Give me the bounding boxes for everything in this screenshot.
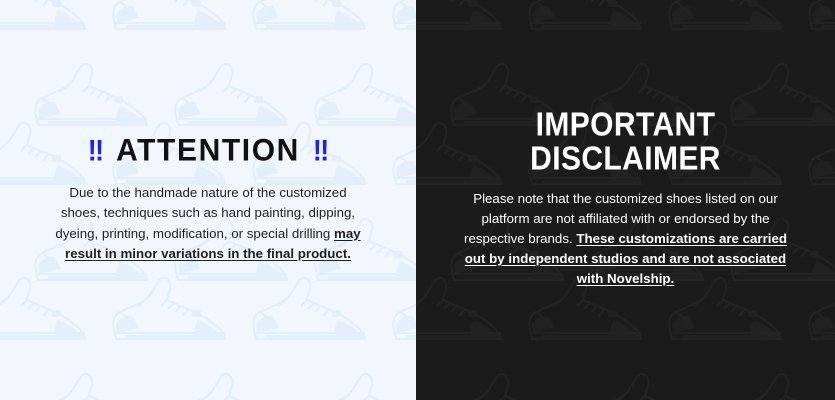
- sneaker-icon: [386, 276, 416, 346]
- attention-body: Due to the handmade nature of the custom…: [48, 183, 368, 264]
- disclaimer-heading-line-2: DISCLAIMER: [444, 142, 807, 176]
- sneaker-icon: [0, 0, 106, 36]
- disclaimer-heading: IMPORTANT DISCLAIMER: [444, 108, 807, 177]
- disclaimer-panel: IMPORTANT DISCLAIMER Please note that th…: [416, 0, 835, 400]
- pattern-row: [416, 0, 835, 36]
- disclaimer-banner: ‼ ATTENTION ‼ Due to the handmade nature…: [0, 0, 835, 400]
- sneaker-icon: [28, 62, 168, 132]
- sneaker-icon: [386, 0, 416, 36]
- disclaimer-content: IMPORTANT DISCLAIMER Please note that th…: [416, 111, 835, 289]
- sneaker-icon: [168, 62, 308, 132]
- sneaker-icon: [28, 372, 168, 400]
- pattern-row: [444, 372, 835, 400]
- sneaker-icon: [522, 0, 662, 36]
- sneaker-icon: [416, 0, 522, 36]
- sneaker-icon: [106, 276, 246, 346]
- disclaimer-heading-line-1: IMPORTANT: [444, 108, 807, 142]
- pattern-row: [0, 276, 416, 346]
- double-exclamation-icon-right: ‼: [313, 137, 328, 166]
- disclaimer-body: Please note that the customized shoes li…: [461, 189, 791, 289]
- sneaker-icon: [444, 372, 584, 400]
- attention-heading: ‼ ATTENTION ‼: [28, 136, 388, 166]
- sneaker-icon: [106, 0, 246, 36]
- sneaker-icon: [246, 0, 386, 36]
- pattern-row: [0, 0, 416, 36]
- sneaker-icon: [802, 0, 835, 36]
- attention-body-normal: Due to the handmade nature of the custom…: [55, 185, 355, 240]
- sneaker-icon: [168, 372, 308, 400]
- sneaker-icon: [662, 0, 802, 36]
- pattern-row: [28, 62, 416, 132]
- attention-content: ‼ ATTENTION ‼ Due to the handmade nature…: [0, 136, 416, 264]
- attention-heading-text: ATTENTION: [116, 135, 300, 167]
- pattern-row: [28, 372, 416, 400]
- sneaker-icon: [308, 372, 416, 400]
- sneaker-icon: [724, 372, 835, 400]
- sneaker-icon: [308, 62, 416, 132]
- sneaker-icon: [584, 372, 724, 400]
- sneaker-icon: [246, 276, 386, 346]
- attention-panel: ‼ ATTENTION ‼ Due to the handmade nature…: [0, 0, 416, 400]
- double-exclamation-icon-left: ‼: [88, 137, 103, 166]
- sneaker-icon: [0, 276, 106, 346]
